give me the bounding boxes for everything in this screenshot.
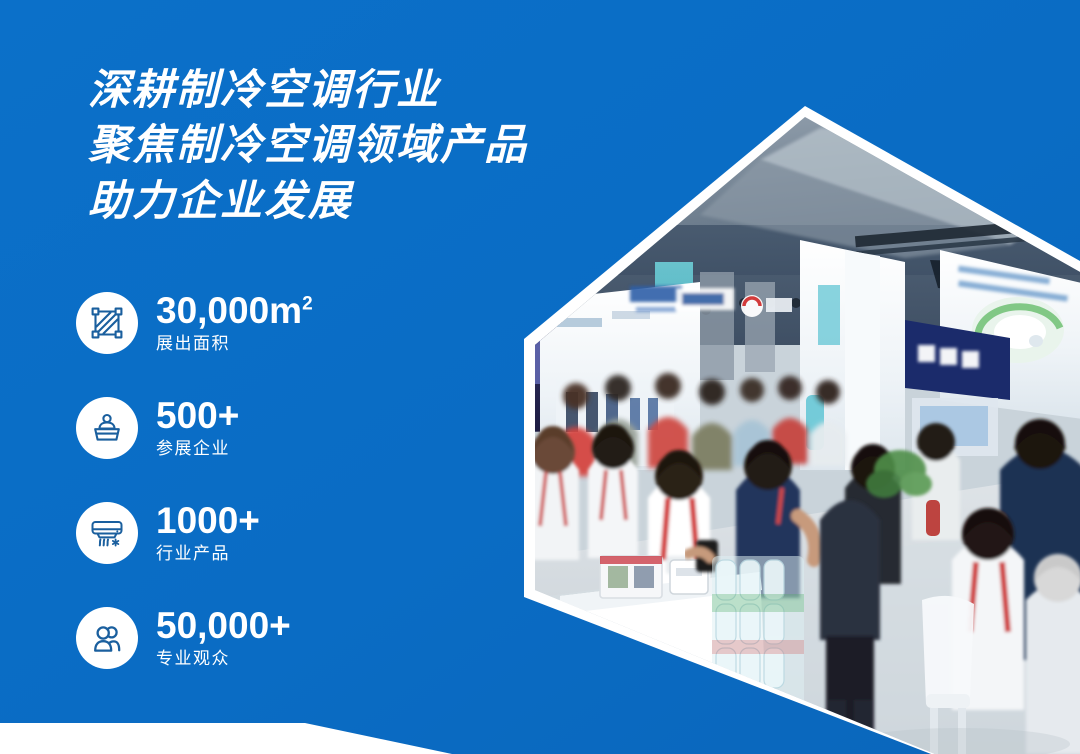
stat-label: 展出面积 <box>156 335 313 354</box>
stat-label: 参展企业 <box>156 440 239 459</box>
people-group-icon <box>76 607 138 669</box>
air-conditioner-icon <box>76 502 138 564</box>
headline-line-2: 聚焦制冷空调领域产品 <box>88 117 648 172</box>
headline-line-1: 深耕制冷空调行业 <box>88 62 648 117</box>
stat-text-exhibition-area: 30,000m2 展出面积 <box>156 292 313 354</box>
area-measure-icon <box>76 292 138 354</box>
stat-text-exhibiting-companies: 500+ 参展企业 <box>156 397 239 459</box>
stat-value: 50,000+ <box>156 607 291 645</box>
stat-item-industry-products: 1000+ 行业产品 <box>76 498 496 568</box>
podium-speaker-icon <box>76 397 138 459</box>
stat-value: 30,000m2 <box>156 292 313 330</box>
stat-item-exhibition-area: 30,000m2 展出面积 <box>76 288 496 358</box>
stat-text-industry-products: 1000+ 行业产品 <box>156 502 260 564</box>
page-title: 深耕制冷空调行业 聚焦制冷空调领域产品 助力企业发展 <box>88 62 648 228</box>
stat-text-professional-visitors: 50,000+ 专业观众 <box>156 607 291 669</box>
stats-list: 30,000m2 展出面积 500+ 参展企业 <box>76 288 496 673</box>
stat-label: 行业产品 <box>156 545 260 564</box>
stat-item-professional-visitors: 50,000+ 专业观众 <box>76 603 496 673</box>
stat-value: 1000+ <box>156 502 260 540</box>
stat-value: 500+ <box>156 397 239 435</box>
headline-line-3: 助力企业发展 <box>88 173 648 228</box>
stat-item-exhibiting-companies: 500+ 参展企业 <box>76 393 496 463</box>
promo-banner: 深耕制冷空调行业 聚焦制冷空调领域产品 助力企业发展 30,000m2 <box>0 0 1080 754</box>
stat-label: 专业观众 <box>156 650 291 669</box>
